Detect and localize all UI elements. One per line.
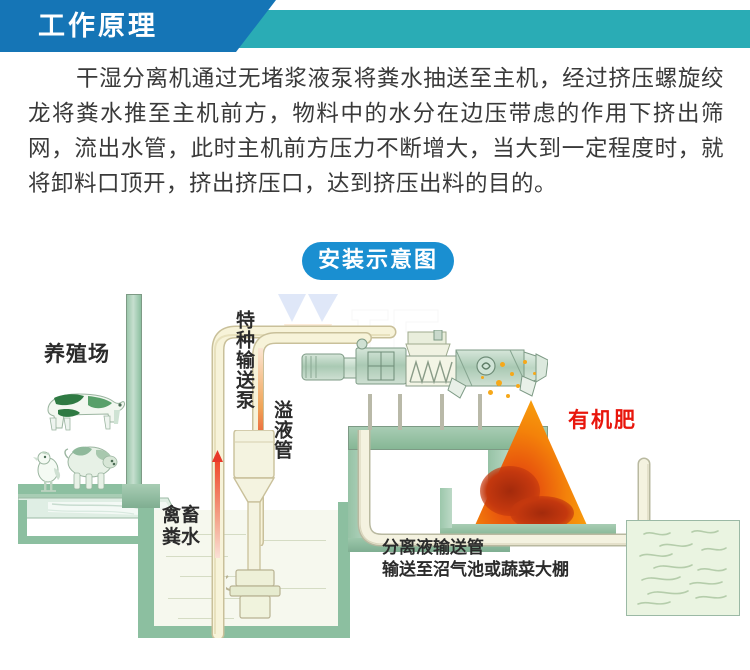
description-paragraph: 干湿分离机通过无堵浆液泵将粪水抽送至主机，经过挤压螺旋绞龙将粪水推至主机前方，物… xyxy=(28,62,724,202)
chicken-icon xyxy=(32,450,66,494)
fertilizer-speckle xyxy=(516,384,520,388)
riser-base-block xyxy=(122,484,160,508)
fertilizer-speckle xyxy=(500,362,505,367)
installation-diagram: 养殖场 xyxy=(0,288,750,640)
label-overflow-pipe: 溢液管 xyxy=(272,400,292,480)
fertilizer-speckle xyxy=(510,372,514,376)
fertilizer-speckle xyxy=(496,380,502,386)
cow-icon xyxy=(34,380,130,442)
water-waves xyxy=(630,524,736,612)
header-banner: 工作原理 xyxy=(0,0,750,58)
fertilizer-speckle xyxy=(488,390,493,395)
fertilizer-speckle xyxy=(523,360,527,364)
vertical-riser-column xyxy=(126,294,142,490)
label-transfer-pump: 特种输送泵 xyxy=(234,310,254,434)
pit-divider-wall xyxy=(138,494,154,638)
page-root: 工作原理 干湿分离机通过无堵浆液泵将粪水抽送至主机，经过挤压螺旋绞龙将粪水推至主… xyxy=(0,0,750,670)
pit-channel-floor xyxy=(18,536,158,544)
label-separated-liquid-line2: 输送至沼气池或蔬菜大棚 xyxy=(382,560,569,581)
label-farm: 养殖场 xyxy=(44,338,110,368)
installation-diagram-badge: 安装示意图 xyxy=(302,242,454,280)
fertilizer-speckle xyxy=(533,372,536,375)
label-separated-liquid-line1: 分离液输送管 xyxy=(382,538,484,559)
fertilizer-speckle xyxy=(506,394,510,398)
fertilizer-speckle xyxy=(481,376,484,379)
separator-machine xyxy=(300,330,548,402)
pig-icon xyxy=(62,440,120,492)
label-manure-water: 禽畜粪水 xyxy=(162,504,214,548)
page-title: 工作原理 xyxy=(38,7,238,47)
